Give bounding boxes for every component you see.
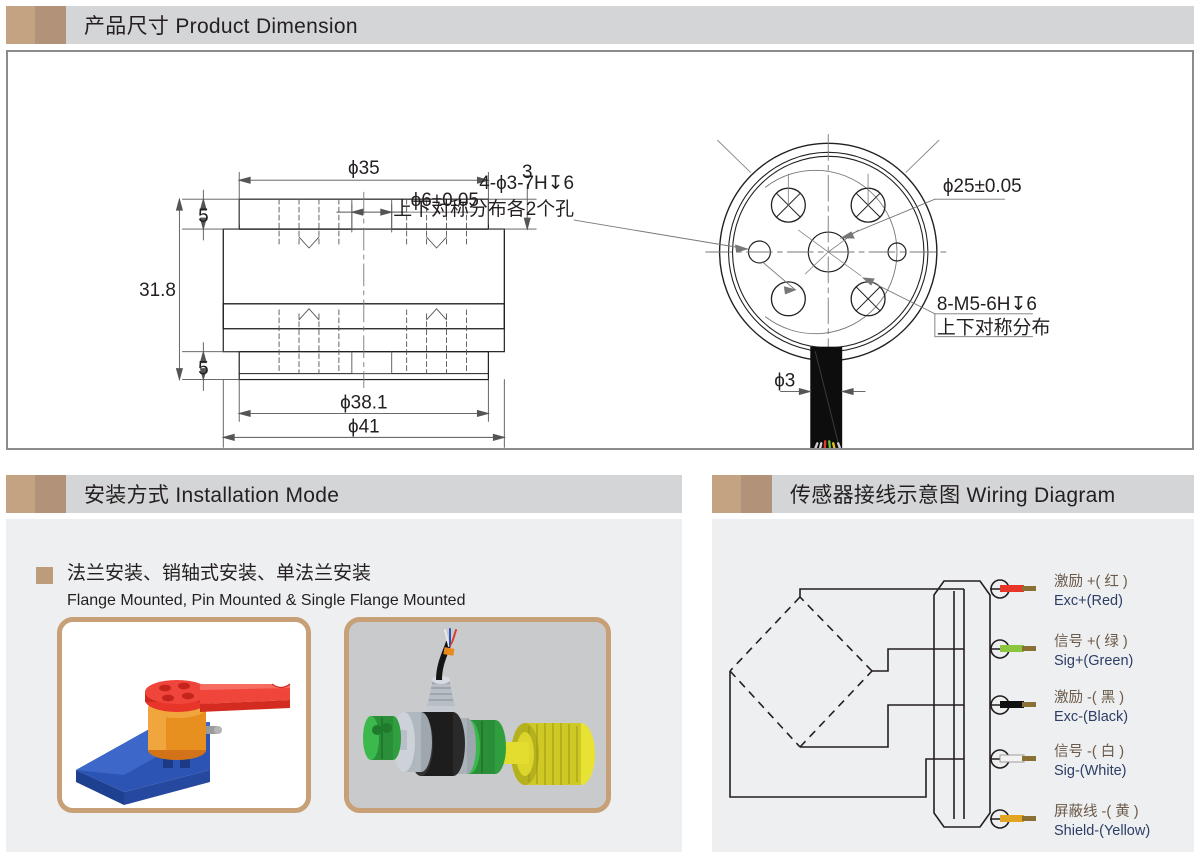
wire-stub-black: [1000, 701, 1024, 708]
callout-8m5-line1: 8-M5-6H↧6: [937, 294, 1037, 315]
terminal-label-cn-0: 激励 +( 红 ): [1054, 573, 1128, 590]
callout-4phi3-line2: 上下对称分布各2个孔: [393, 198, 574, 220]
terminal-label-en-0: Exc+(Red): [1054, 593, 1123, 609]
dim-label-phi35: ϕ35: [348, 158, 380, 179]
terminal-label-en-3: Sig-(White): [1054, 763, 1127, 779]
wire-stub-green: [1000, 645, 1024, 652]
callout-4phi3-line1: 4-ϕ3-7H↧6: [479, 173, 574, 194]
dim-label-bottom5: 5: [198, 359, 209, 380]
callout-phi25: ϕ25±0.05: [943, 176, 1022, 197]
terminal-label-cn-4: 屏蔽线 -( 黄 ): [1054, 803, 1139, 820]
section-title-cn: 传感器接线示意图: [790, 484, 960, 507]
dim-label-phi381: ϕ38.1: [340, 392, 387, 413]
wire-stub-yellow: [1000, 815, 1024, 822]
section-header-installation-mode: 安装方式 Installation Mode: [6, 475, 682, 513]
accent-bar: [6, 475, 66, 513]
callout-cable-phi3: ϕ3: [774, 371, 795, 392]
installation-text-cn: 法兰安装、销轴式安装、单法兰安装: [67, 561, 465, 587]
wiring-diagram-panel: 激励 +( 红 ) Exc+(Red) 信号 +( 绿 ) Sig+(Green…: [712, 519, 1194, 852]
installation-text-en: Flange Mounted, Pin Mounted & Single Fla…: [67, 589, 465, 613]
terminal-label-cn-2: 激励 -( 黑 ): [1054, 689, 1124, 706]
product-dimension-panel: ϕ35 ϕ6±0.05 3 5 5 31.8 ϕ38.1 ϕ41 4-ϕ3-7H…: [6, 50, 1194, 450]
datasheet-page: 产品尺寸 Product Dimension: [0, 0, 1200, 858]
dim-label-height318: 31.8: [139, 280, 176, 301]
callout-8m5-line2: 上下对称分布: [937, 317, 1051, 339]
dim-label-phi41: ϕ41: [348, 416, 380, 437]
render-pin-mounted: [349, 622, 606, 808]
wire-stub-white: [1000, 755, 1024, 762]
front-view-leaders: [574, 199, 1032, 337]
bullet-square-icon: [36, 567, 53, 584]
side-view-geometry: [223, 192, 504, 387]
section-title-installation-mode: 安装方式 Installation Mode: [66, 479, 339, 509]
section-title-en: Product Dimension: [175, 15, 358, 38]
terminal-label-cn-1: 信号 +( 绿 ): [1054, 633, 1128, 650]
accent-bar: [712, 475, 772, 513]
render-flange-mounted: [62, 622, 306, 808]
wiring-schematic: 激励 +( 红 ) Exc+(Red) 信号 +( 绿 ) Sig+(Green…: [712, 519, 1194, 852]
terminal-label-cn-3: 信号 -( 白 ): [1054, 743, 1124, 760]
front-view-geometry: [706, 134, 951, 369]
cable-assembly: [780, 347, 865, 448]
section-title-wiring-diagram: 传感器接线示意图 Wiring Diagram: [772, 479, 1115, 509]
dimension-drawing: ϕ35 ϕ6±0.05 3 5 5 31.8 ϕ38.1 ϕ41 4-ϕ3-7H…: [8, 52, 1192, 448]
wire-stub-red: [1000, 585, 1024, 592]
section-title-en: Wiring Diagram: [967, 484, 1116, 507]
dim-label-top5: 5: [198, 206, 209, 227]
section-title-cn: 安装方式: [84, 484, 169, 507]
installation-bullet: 法兰安装、销轴式安装、单法兰安装 Flange Mounted, Pin Mou…: [36, 561, 465, 613]
terminal-label-en-4: Shield-(Yellow): [1054, 823, 1150, 839]
terminal-label-en-2: Exc-(Black): [1054, 709, 1128, 725]
terminal-label-en-1: Sig+(Green): [1054, 653, 1133, 669]
section-header-wiring-diagram: 传感器接线示意图 Wiring Diagram: [712, 475, 1194, 513]
installation-photo-flange-mounted: [57, 617, 311, 813]
accent-bar: [6, 6, 66, 44]
section-title-en: Installation Mode: [175, 484, 339, 507]
installation-photo-pin-mounted: [344, 617, 611, 813]
section-header-product-dimension: 产品尺寸 Product Dimension: [6, 6, 1194, 44]
section-title-cn: 产品尺寸: [84, 15, 169, 38]
section-title-product-dimension: 产品尺寸 Product Dimension: [66, 10, 358, 40]
